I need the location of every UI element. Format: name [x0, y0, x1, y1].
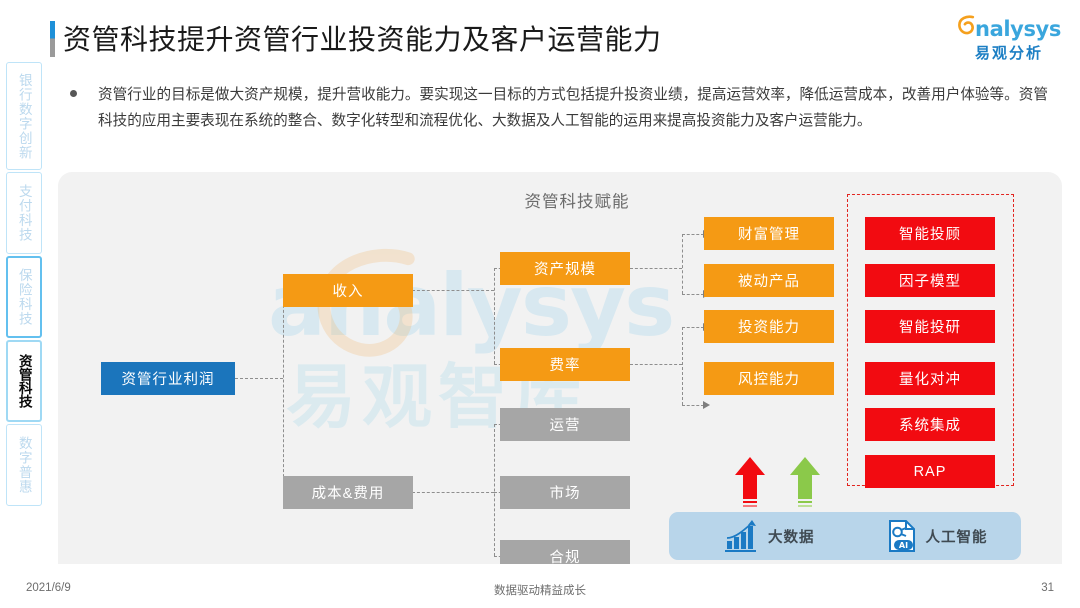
node-fee-rate[interactable]: 费率: [500, 348, 630, 381]
connector-asset-scale-split: [682, 234, 683, 294]
diagram-card: analysys 易观智库 资管科技赋能: [58, 172, 1062, 564]
sidebar-item-digital-inclusive-finance[interactable]: 数字普惠: [6, 424, 42, 506]
connector-cost-split: [494, 424, 495, 556]
node-label: 风控能力: [738, 368, 800, 389]
logo-wordmark: nalysys: [975, 17, 1061, 41]
node-label: 因子模型: [899, 270, 961, 291]
connector-income-out: [412, 290, 494, 291]
connector-fee-rate-out: [630, 364, 682, 365]
sidebar-item-payment-tech[interactable]: 支付科技: [6, 172, 42, 254]
node-factor-model[interactable]: 因子模型: [865, 264, 995, 297]
node-investment-ability[interactable]: 投资能力: [704, 310, 834, 343]
page-title: 资管科技提升资管行业投资能力及客户运营能力: [63, 18, 662, 58]
node-system-integration[interactable]: 系统集成: [865, 408, 995, 441]
bullet-marker-icon: [70, 90, 77, 97]
node-label: 被动产品: [738, 270, 800, 291]
analysys-logo: nalysys 易观分析: [950, 14, 1068, 63]
node-operation[interactable]: 运营: [500, 408, 630, 441]
node-asset-scale[interactable]: 资产规模: [500, 252, 630, 285]
node-market[interactable]: 市场: [500, 476, 630, 509]
sidebar-item-label: 资管科技: [16, 354, 32, 408]
node-label: 财富管理: [738, 223, 800, 244]
ai-document-icon: AI: [887, 519, 917, 553]
node-label: 成本&费用: [312, 482, 385, 503]
node-label: 资产规模: [534, 258, 596, 279]
connector-trunk: [283, 290, 284, 492]
capability-ai[interactable]: AI 人工智能: [887, 519, 988, 553]
connector-root-out: [235, 378, 283, 379]
sidebar-item-asset-management-tech[interactable]: 资管科技: [6, 340, 42, 422]
title-accent-bar: [50, 21, 55, 57]
sidebar-tab-rail: 银行数字创新 支付科技 保险科技 资管科技 数字普惠: [6, 62, 42, 562]
sidebar-item-insurance-tech[interactable]: 保险科技: [6, 256, 42, 338]
bar-chart-growth-icon: [725, 520, 759, 552]
connector-to-wealth-mgmt: [682, 234, 704, 235]
sidebar-item-label: 银行数字创新: [16, 73, 32, 160]
node-intelligent-research[interactable]: 智能投研: [865, 310, 995, 343]
node-revenue[interactable]: 收入: [283, 274, 413, 307]
capability-label: 大数据: [768, 526, 815, 547]
node-risk-control-ability[interactable]: 风控能力: [704, 362, 834, 395]
body-paragraph: 资管行业的目标是做大资产规模，提升营收能力。要实现这一目标的方式包括提升投资业绩…: [98, 82, 1048, 134]
sidebar-item-label: 数字普惠: [16, 436, 32, 494]
connector-to-passive-product: [682, 294, 704, 295]
node-label: 资管行业利润: [122, 368, 215, 389]
capability-bar: 大数据 AI 人工智能: [669, 512, 1021, 560]
svg-text:AI: AI: [898, 541, 907, 550]
logo-swirl-icon: [957, 14, 976, 36]
footer-page-number: 31: [1041, 582, 1054, 594]
node-label: 量化对冲: [899, 368, 961, 389]
capability-big-data[interactable]: 大数据: [725, 520, 815, 552]
sidebar-item-bank-digital-innovation[interactable]: 银行数字创新: [6, 62, 42, 170]
node-rap[interactable]: RAP: [865, 455, 995, 488]
capability-label: 人工智能: [926, 526, 988, 547]
node-compliance[interactable]: 合规: [500, 540, 630, 564]
connector-cost-out: [412, 492, 494, 493]
connector-fee-rate-split: [682, 327, 683, 405]
node-passive-product[interactable]: 被动产品: [704, 264, 834, 297]
red-up-arrow-icon: [734, 455, 766, 511]
arrow-to-risk-ability: [703, 401, 710, 409]
node-asset-management-profit[interactable]: 资管行业利润: [101, 362, 235, 395]
connector-to-invest-ability: [682, 327, 704, 328]
sidebar-item-label: 支付科技: [16, 184, 32, 242]
node-label: 市场: [550, 482, 581, 503]
green-up-arrow-icon: [789, 455, 821, 511]
slide-page: 银行数字创新 支付科技 保险科技 资管科技 数字普惠 资管科技提升资管行业投资能…: [0, 0, 1080, 608]
connector-income-split: [494, 268, 495, 364]
node-label: 运营: [550, 414, 581, 435]
node-label: 投资能力: [738, 316, 800, 337]
node-cost-expense[interactable]: 成本&费用: [283, 476, 413, 509]
node-label: 智能投研: [899, 316, 961, 337]
node-label: 智能投顾: [899, 223, 961, 244]
node-label: 合规: [550, 546, 581, 564]
node-label: 收入: [333, 280, 364, 301]
node-quant-hedging[interactable]: 量化对冲: [865, 362, 995, 395]
node-robo-advisor[interactable]: 智能投顾: [865, 217, 995, 250]
node-label: 费率: [550, 354, 581, 375]
footer-tagline: 数据驱动精益成长: [0, 582, 1080, 598]
logo-chinese-name: 易观分析: [950, 42, 1068, 63]
sidebar-item-label: 保险科技: [16, 268, 32, 326]
node-label: 系统集成: [899, 414, 961, 435]
node-label: RAP: [914, 464, 947, 480]
connector-asset-scale-out: [630, 268, 682, 269]
connector-to-risk-ability: [682, 405, 704, 406]
node-wealth-management[interactable]: 财富管理: [704, 217, 834, 250]
